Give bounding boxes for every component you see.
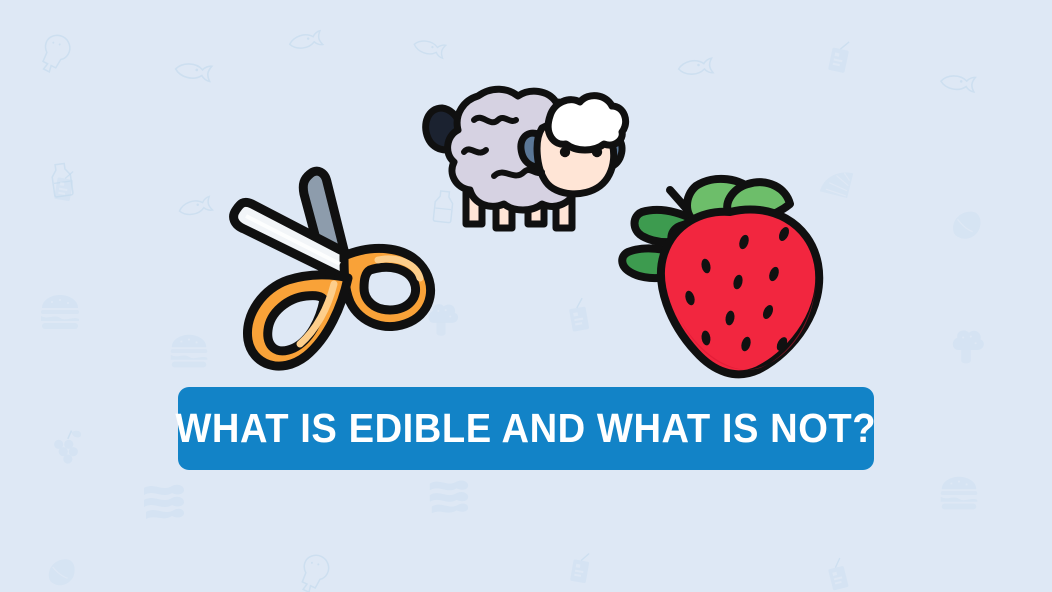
juice-box-icon xyxy=(43,165,89,211)
juice-box-icon xyxy=(557,293,606,342)
sheep-eye-right xyxy=(592,147,602,157)
fish-icon xyxy=(284,26,334,76)
page-title: WHAT IS EDIBLE AND WHAT IS NOT? xyxy=(176,408,877,449)
strawberry-icon xyxy=(618,166,844,390)
title-banner: WHAT IS EDIBLE AND WHAT IS NOT? xyxy=(178,387,874,470)
burger-icon xyxy=(936,472,982,518)
lemon-icon xyxy=(39,551,84,592)
fish-icon xyxy=(404,34,452,82)
lemon-icon xyxy=(944,204,990,250)
juice-box-icon xyxy=(559,547,605,592)
scissors-pivot-screw xyxy=(325,268,335,278)
grapes-icon xyxy=(44,426,88,470)
broccoli-icon xyxy=(944,326,990,372)
sheep-illustration xyxy=(408,78,634,263)
strawberry-body xyxy=(661,209,819,374)
burger-icon xyxy=(36,290,84,338)
quiz-card: WHAT IS EDIBLE AND WHAT IS NOT? xyxy=(0,0,1052,592)
bacon-icon xyxy=(426,474,472,520)
fish-icon xyxy=(174,192,225,243)
sheep-eye-left xyxy=(560,147,570,157)
fish-icon xyxy=(167,57,219,109)
bacon-icon xyxy=(140,478,188,526)
chicken-leg-icon xyxy=(288,546,344,592)
burger-icon xyxy=(166,330,212,376)
chicken-leg-icon xyxy=(29,26,84,81)
juice-box-icon xyxy=(816,34,866,84)
sheep-curl-2 xyxy=(464,149,486,152)
sheep-head-wool xyxy=(548,96,625,150)
juice-box-icon xyxy=(816,552,864,592)
sheep-icon xyxy=(408,78,634,258)
milk-bottle-icon xyxy=(39,157,89,207)
fish-icon xyxy=(934,70,982,118)
strawberry-illustration xyxy=(618,166,844,395)
fish-icon xyxy=(674,54,722,102)
scissors-handle-right-hole xyxy=(364,267,416,310)
